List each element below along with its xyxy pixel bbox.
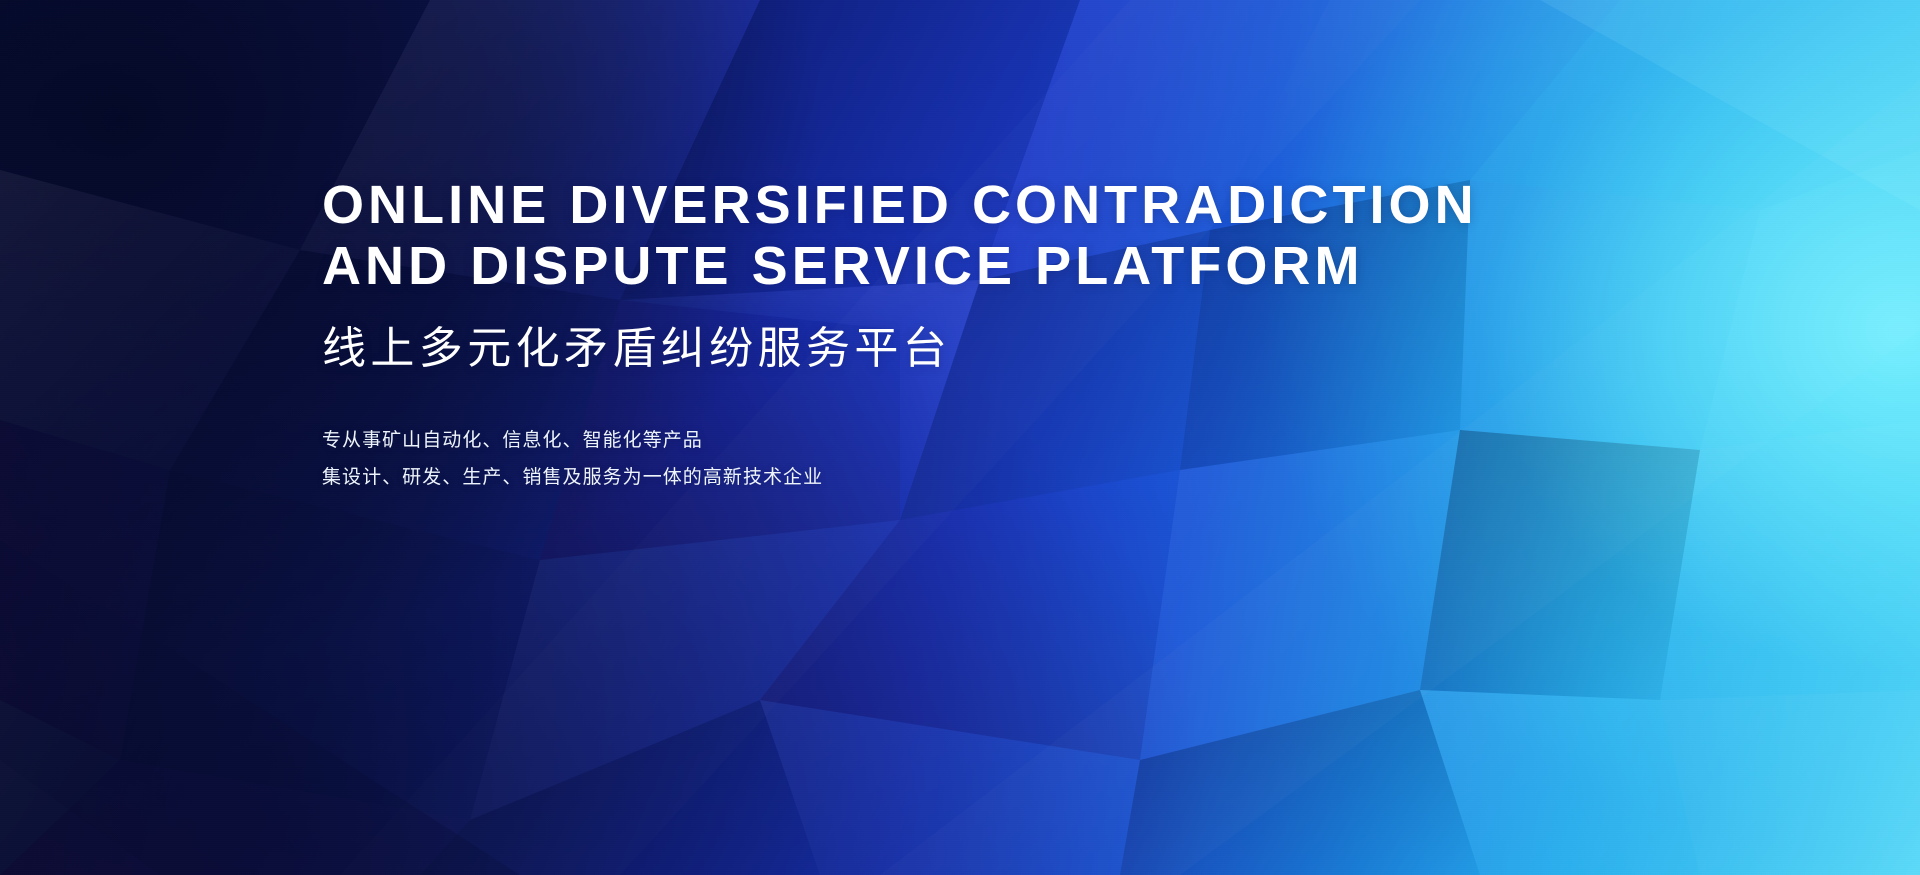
page-subtitle-chinese: 线上多元化矛盾纠纷服务平台 bbox=[322, 323, 1722, 376]
company-description: 专从事矿山自动化、信息化、智能化等产品 集设计、研发、生产、销售及服务为一体的高… bbox=[322, 422, 1722, 496]
headline-line-1: ONLINE DIVERSIFIED CONTRADICTION bbox=[322, 175, 1722, 236]
hero-content: ONLINE DIVERSIFIED CONTRADICTION AND DIS… bbox=[322, 175, 1722, 496]
page-title: ONLINE DIVERSIFIED CONTRADICTION AND DIS… bbox=[322, 175, 1722, 297]
description-line-1: 专从事矿山自动化、信息化、智能化等产品 bbox=[322, 422, 1722, 459]
description-line-2: 集设计、研发、生产、销售及服务为一体的高新技术企业 bbox=[322, 459, 1722, 496]
hero-banner: ONLINE DIVERSIFIED CONTRADICTION AND DIS… bbox=[0, 0, 1920, 875]
headline-line-2: AND DISPUTE SERVICE PLATFORM bbox=[322, 236, 1722, 297]
